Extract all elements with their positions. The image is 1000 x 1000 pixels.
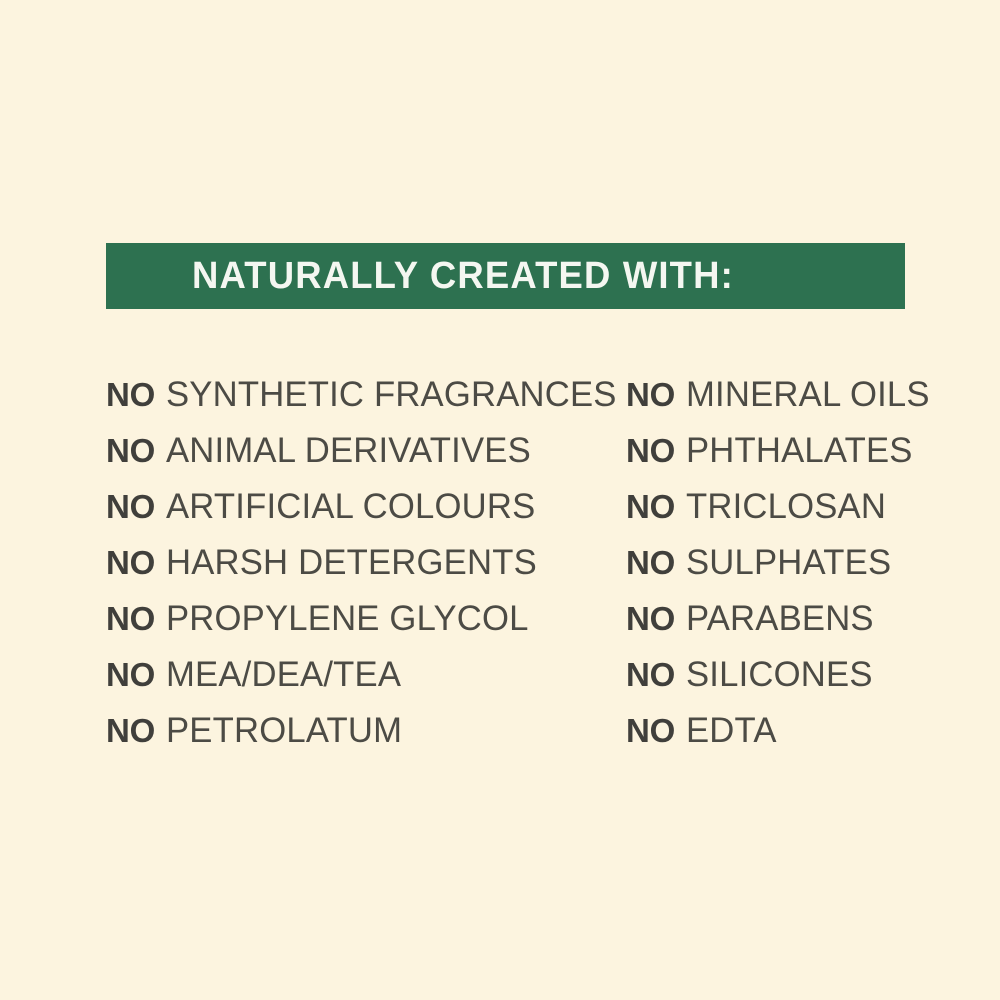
list-item-prefix: NO [626,602,675,635]
list-item-prefix: NO [106,546,155,579]
list-item-prefix: NO [106,378,155,411]
list-item: NO SILICONES [626,646,916,702]
list-item: NO PARABENS [626,590,916,646]
ingredient-exclusion-lists: NO SYNTHETIC FRAGRANCES NO ANIMAL DERIVA… [106,366,916,758]
list-column-left: NO SYNTHETIC FRAGRANCES NO ANIMAL DERIVA… [106,366,626,758]
list-item: NO PHTHALATES [626,422,916,478]
list-item: NO PETROLATUM [106,702,626,758]
banner-title: NATURALLY CREATED WITH: [192,257,734,295]
list-item-prefix: NO [106,714,155,747]
list-item-label: HARSH DETERGENTS [166,545,537,580]
list-item-label: ANIMAL DERIVATIVES [166,433,531,468]
list-item: NO HARSH DETERGENTS [106,534,626,590]
list-item: NO PROPYLENE GLYCOL [106,590,626,646]
list-item-label: PETROLATUM [166,713,402,748]
list-item-prefix: NO [626,546,675,579]
banner-naturally-created-with: NATURALLY CREATED WITH: [106,243,905,309]
list-item-prefix: NO [626,658,675,691]
list-item-label: PROPYLENE GLYCOL [166,601,529,636]
list-item-prefix: NO [106,602,155,635]
list-item-label: PARABENS [686,601,874,636]
list-item: NO MINERAL OILS [626,366,916,422]
list-item: NO ARTIFICIAL COLOURS [106,478,626,534]
list-column-right: NO MINERAL OILS NO PHTHALATES NO TRICLOS… [626,366,916,758]
list-item-label: EDTA [686,713,777,748]
list-item-prefix: NO [106,434,155,467]
list-item-label: SULPHATES [686,545,891,580]
list-item-label: MINERAL OILS [686,377,930,412]
page-root: NATURALLY CREATED WITH: NO SYNTHETIC FRA… [0,0,1000,1000]
list-item-prefix: NO [626,490,675,523]
list-item: NO MEA/DEA/TEA [106,646,626,702]
list-item: NO SYNTHETIC FRAGRANCES [106,366,626,422]
list-item-label: TRICLOSAN [686,489,886,524]
list-item-prefix: NO [626,378,675,411]
list-item: NO TRICLOSAN [626,478,916,534]
list-item: NO ANIMAL DERIVATIVES [106,422,626,478]
list-item-label: MEA/DEA/TEA [166,657,401,692]
list-item: NO SULPHATES [626,534,916,590]
list-item: NO EDTA [626,702,916,758]
list-item-prefix: NO [106,490,155,523]
list-item-prefix: NO [626,434,675,467]
list-item-label: ARTIFICIAL COLOURS [166,489,535,524]
list-item-label: SILICONES [686,657,873,692]
list-item-prefix: NO [626,714,675,747]
list-item-label: PHTHALATES [686,433,913,468]
list-item-label: SYNTHETIC FRAGRANCES [166,377,617,412]
list-item-prefix: NO [106,658,155,691]
